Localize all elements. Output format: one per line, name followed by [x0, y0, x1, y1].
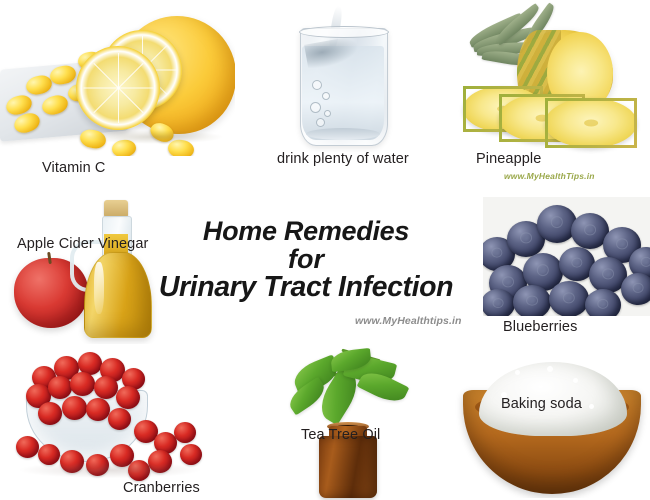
lemon-slice-front: [76, 46, 160, 130]
apple-stem: [47, 252, 52, 264]
cranberry: [48, 376, 72, 399]
cranberry: [94, 376, 118, 399]
infographic-poster: Vitamin C drink plenty of water Pineappl…: [0, 0, 650, 500]
water-bubble: [312, 80, 322, 90]
powder-grain: [589, 404, 594, 409]
photo-drink-plenty-of-water: [288, 6, 398, 152]
title-line-3: Urinary Tract Infection: [120, 273, 492, 302]
title-line-2: for: [120, 246, 492, 274]
amber-oil-bottle: [319, 436, 377, 498]
cranberry: [108, 408, 131, 430]
cruet-highlight: [94, 262, 104, 314]
label-cranberries: Cranberries: [123, 480, 200, 496]
blueberry: [483, 289, 515, 316]
label-vitamin-c: Vitamin C: [42, 160, 106, 176]
powder-grain: [515, 370, 520, 375]
water-bubble: [316, 118, 325, 127]
label-tea-tree-oil: Tea Tree Oil: [301, 427, 380, 443]
powder-grain: [573, 378, 578, 383]
cranberry: [86, 398, 110, 421]
cranberry-scattered: [16, 436, 39, 458]
photo-tea-tree-oil: [283, 348, 415, 500]
photo-cranberries: [2, 350, 224, 498]
powder-grain: [547, 366, 553, 372]
blueberry: [513, 285, 551, 316]
label-baking-soda: Baking soda: [501, 396, 582, 412]
cranberry-scattered: [174, 422, 196, 443]
photo-vitamin-c: [0, 4, 235, 156]
blueberry: [549, 281, 589, 316]
photo-blueberries: [483, 197, 650, 316]
photo-shadow: [86, 130, 224, 144]
cranberry: [70, 372, 95, 396]
water-bubble: [324, 110, 331, 117]
watermark-secondary: www.MyHealthTips.in: [504, 171, 595, 181]
label-pineapple: Pineapple: [476, 151, 541, 167]
water-bubble: [310, 102, 321, 113]
pineapple-slice: [545, 98, 637, 148]
glass-base: [306, 128, 380, 140]
blueberry: [621, 273, 650, 305]
photo-pineapple: [455, 2, 650, 154]
blueberry: [585, 289, 621, 316]
blueberry: [537, 205, 577, 243]
photo-shadow: [20, 462, 200, 478]
label-drink-plenty-of-water: drink plenty of water: [277, 151, 409, 167]
label-blueberries: Blueberries: [503, 319, 577, 335]
poster-title: Home Remedies for Urinary Tract Infectio…: [120, 218, 492, 302]
title-line-1: Home Remedies: [120, 218, 492, 246]
cranberry: [116, 386, 140, 409]
watermark-main: www.MyHealthtips.in: [355, 315, 462, 327]
cranberry: [62, 396, 87, 420]
photo-baking-soda: [455, 348, 650, 498]
cranberry: [38, 402, 62, 425]
glass-rim: [299, 26, 389, 38]
water-bubble: [322, 92, 330, 100]
